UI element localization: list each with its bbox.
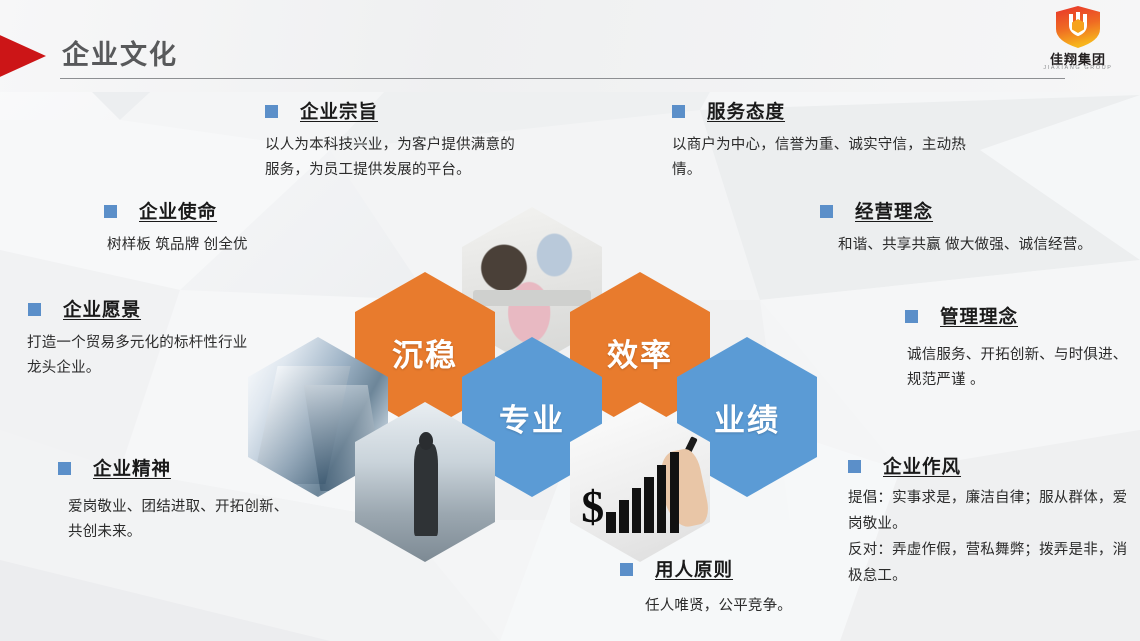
bullet-square-icon: [620, 563, 633, 576]
block-operation-body: 和谐、共享共赢 做大做强、诚信经营。: [838, 233, 1108, 258]
block-service: 服务态度 以商户为中心，信誉为重、诚实守信，主动热情。: [672, 98, 972, 183]
block-vision-body: 打造一个贸易多元化的标杆性行业龙头企业。: [27, 331, 260, 381]
hexagon-performance-label: 业绩: [714, 395, 780, 440]
logo-name-en: JIAXIANG GROUP: [1030, 65, 1126, 71]
block-style-body-oppose: 反对：弄虚作假，营私舞弊；拨弄是非，消极怠工。: [848, 537, 1138, 589]
bullet-square-icon: [58, 462, 71, 475]
block-management: 管理理念 诚信服务、开拓创新、与时俱进、规范严谨 。: [905, 303, 1130, 393]
block-purpose-heading: 企业宗旨: [265, 98, 527, 124]
block-hiring-heading: 用人原则: [620, 556, 870, 582]
block-purpose: 企业宗旨 以人为本科技兴业，为客户提供满意的服务，为员工提供发展的平台。: [265, 98, 527, 183]
block-spirit-body: 爱岗敬业、团结进取、开拓创新、共创未来。: [68, 495, 298, 545]
block-purpose-title: 企业宗旨: [300, 98, 378, 124]
bullet-square-icon: [104, 205, 117, 218]
block-vision: 企业愿景 打造一个贸易多元化的标杆性行业龙头企业。: [28, 296, 260, 381]
bullet-square-icon: [28, 303, 41, 316]
block-spirit-heading: 企业精神: [58, 455, 298, 481]
block-hiring-title: 用人原则: [655, 556, 733, 582]
block-service-body: 以商户为中心，信誉为重、诚实守信，主动热情。: [672, 133, 972, 183]
block-operation-title: 经营理念: [855, 198, 933, 224]
block-mission: 企业使命 树样板 筑品牌 创全优: [104, 198, 354, 258]
block-mission-heading: 企业使命: [104, 198, 354, 224]
block-mission-body: 树样板 筑品牌 创全优: [107, 233, 354, 258]
bullet-square-icon: [672, 105, 685, 118]
block-style-title: 企业作风: [883, 453, 961, 479]
company-logo: 佳翔集团 JIAXIANG GROUP: [1030, 3, 1126, 77]
block-management-body: 诚信服务、开拓创新、与时俱进、规范严谨 。: [907, 343, 1130, 393]
shield-logo-icon: [1030, 3, 1126, 51]
hexagon-efficiency-label: 效率: [607, 330, 673, 375]
block-operation: 经营理念 和谐、共享共赢 做大做强、诚信经营。: [820, 198, 1108, 258]
hexagon-professional-label: 专业: [499, 395, 565, 440]
block-service-heading: 服务态度: [672, 98, 972, 124]
block-management-title: 管理理念: [940, 303, 1018, 329]
block-mission-title: 企业使命: [139, 198, 217, 224]
bullet-square-icon: [905, 310, 918, 323]
bullet-square-icon: [848, 460, 861, 473]
block-style-body-advocate: 提倡：实事求是，廉洁自律；服从群体，爱岗敬业。: [848, 485, 1138, 537]
block-vision-title: 企业愿景: [63, 296, 141, 322]
block-spirit-title: 企业精神: [93, 455, 171, 481]
bar-chart-icon: [606, 450, 679, 533]
block-vision-heading: 企业愿景: [28, 296, 260, 322]
bullet-square-icon: [820, 205, 833, 218]
page-title: 企业文化: [62, 38, 178, 72]
title-divider: [60, 78, 1065, 79]
hexagon-steady-label: 沉稳: [392, 330, 458, 375]
bullet-square-icon: [265, 105, 278, 118]
block-operation-heading: 经营理念: [820, 198, 1108, 224]
block-service-title: 服务态度: [707, 98, 785, 124]
dollar-sign-icon: $: [581, 484, 604, 530]
block-style-heading: 企业作风: [848, 453, 1138, 479]
block-purpose-body: 以人为本科技兴业，为客户提供满意的服务，为员工提供发展的平台。: [265, 133, 527, 183]
block-hiring: 用人原则 任人唯贤，公平竞争。: [620, 556, 870, 619]
block-hiring-body: 任人唯贤，公平竞争。: [645, 594, 870, 619]
block-management-heading: 管理理念: [905, 303, 1130, 329]
block-style: 企业作风 提倡：实事求是，廉洁自律；服从群体，爱岗敬业。 反对：弄虚作假，营私舞…: [848, 453, 1138, 589]
block-spirit: 企业精神 爱岗敬业、团结进取、开拓创新、共创未来。: [58, 455, 298, 545]
slide-canvas: 企业文化 佳翔集团 JIAXIANG GROUP 沉稳 效率: [0, 0, 1140, 641]
